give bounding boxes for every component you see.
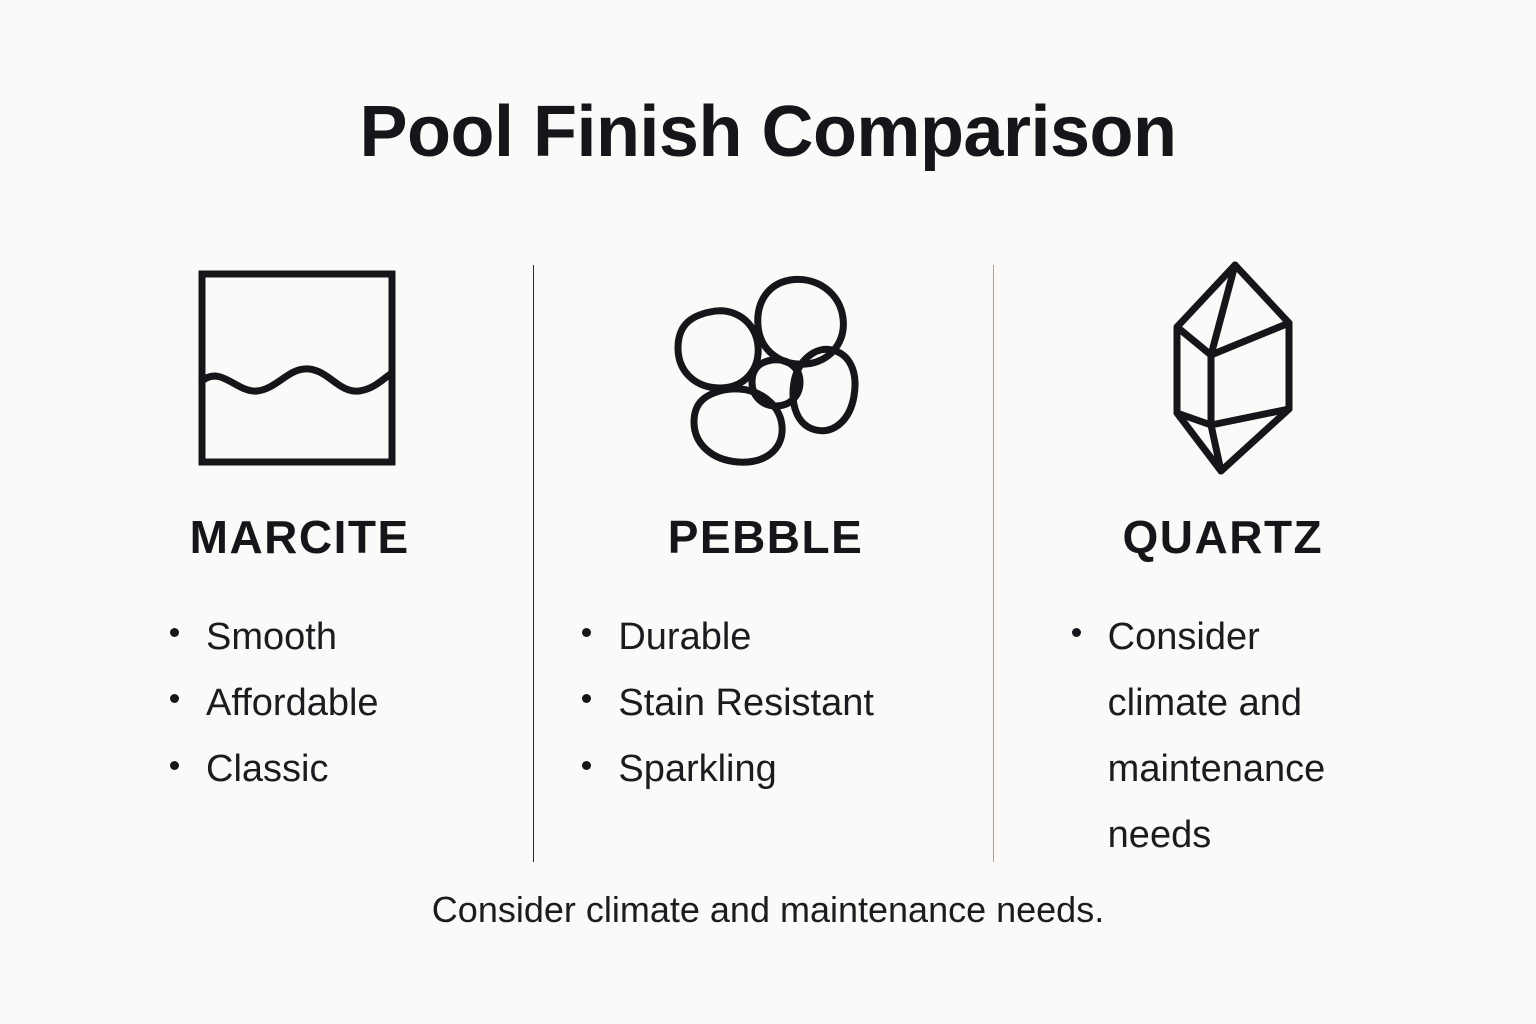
page-title: Pool Finish Comparison <box>0 96 1536 168</box>
list-item-label: Consider climate and maintenance needs <box>1108 616 1326 856</box>
bullet-dot-icon <box>1072 628 1081 637</box>
list-item: Stain Resistant <box>582 670 874 736</box>
column-quartz: QUARTZ Consider climate and maintenance … <box>994 258 1458 868</box>
list-item: Smooth <box>170 604 379 670</box>
list-item: Consider climate and maintenance needs <box>1072 604 1372 868</box>
bullet-dot-icon <box>582 628 591 637</box>
column-heading-quartz: QUARTZ <box>1123 514 1324 560</box>
list-item-label: Stain Resistant <box>618 682 874 724</box>
bullet-dot-icon <box>170 761 179 770</box>
pebbles-icon <box>668 258 866 478</box>
list-item: Durable <box>582 604 874 670</box>
list-item: Sparkling <box>582 736 874 802</box>
column-pebble: PEBBLE Durable Stain Resistant Sparkling <box>534 258 992 802</box>
column-heading-pebble: PEBBLE <box>668 514 864 560</box>
pool-finish-comparison-infographic: Pool Finish Comparison MARCITE Smooth Af… <box>0 0 1536 1024</box>
comparison-columns: MARCITE Smooth Affordable Classic <box>78 258 1458 858</box>
bullet-dot-icon <box>170 694 179 703</box>
list-item-label: Smooth <box>206 616 337 658</box>
footer-note: Consider climate and maintenance needs. <box>0 888 1536 931</box>
list-item: Affordable <box>170 670 379 736</box>
bullet-dot-icon <box>170 628 179 637</box>
feature-list-pebble: Durable Stain Resistant Sparkling <box>582 604 874 802</box>
list-item: Classic <box>170 736 379 802</box>
quartz-crystal-icon <box>1163 258 1303 478</box>
list-item-label: Sparkling <box>618 748 776 790</box>
list-item-label: Classic <box>206 748 328 790</box>
bullet-dot-icon <box>582 694 591 703</box>
feature-list-quartz: Consider climate and maintenance needs <box>1072 604 1372 868</box>
bullet-dot-icon <box>582 761 591 770</box>
column-heading-marcite: MARCITE <box>190 514 410 560</box>
water-square-icon <box>197 258 397 478</box>
list-item-label: Durable <box>618 616 751 658</box>
column-marcite: MARCITE Smooth Affordable Classic <box>78 258 533 802</box>
list-item-label: Affordable <box>206 682 379 724</box>
feature-list-marcite: Smooth Affordable Classic <box>170 604 379 802</box>
